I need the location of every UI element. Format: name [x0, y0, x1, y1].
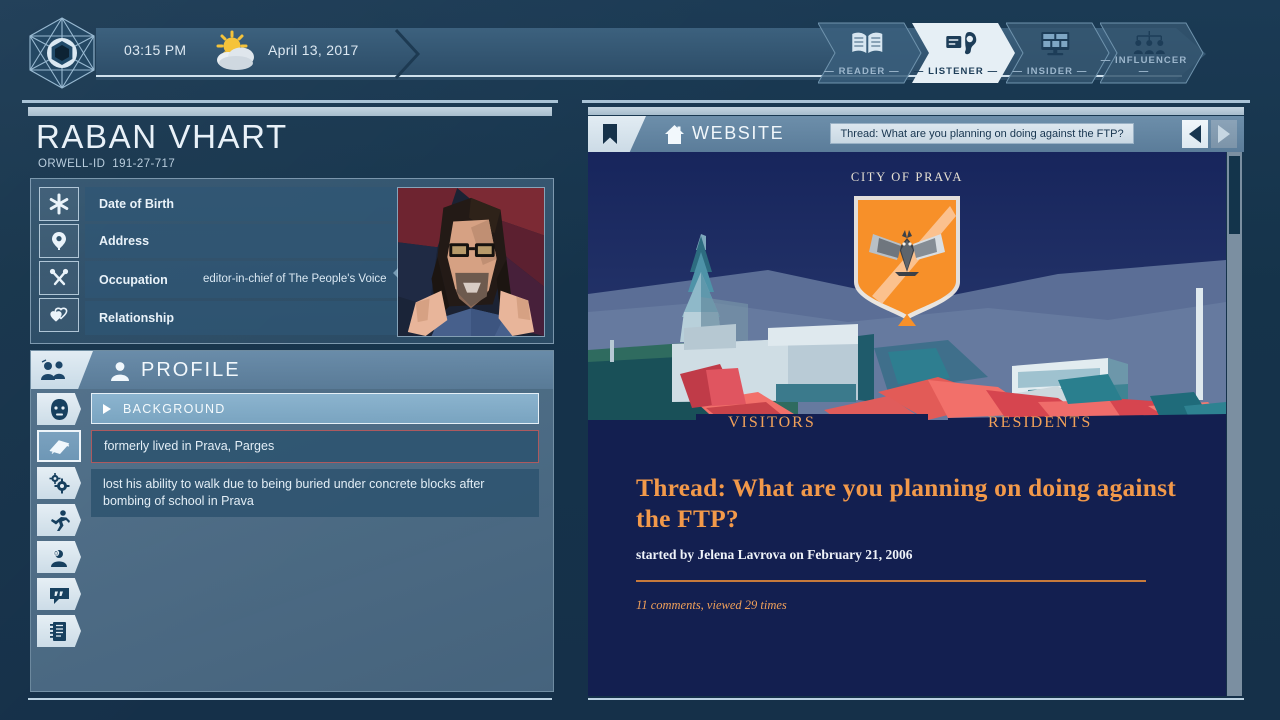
info-row-dob[interactable]: Date of Birth [85, 187, 413, 221]
face-icon[interactable] [37, 393, 81, 425]
info-row-relationship[interactable]: Relationship [85, 301, 413, 335]
thread-byline: started by Jelena Lavrova on February 21… [636, 547, 1182, 563]
tab-reader[interactable]: — READER — [818, 22, 922, 84]
home-icon [664, 124, 685, 145]
panel-top-rule [22, 100, 558, 103]
profile-header-title: PROFILE [141, 359, 241, 382]
arrow-left-icon [1189, 125, 1201, 143]
open-book-icon [850, 30, 884, 56]
chevron-right-icon [103, 404, 111, 414]
scrollbar-thumb[interactable] [1229, 156, 1240, 234]
visitors-link[interactable]: VISITORS [728, 414, 816, 432]
ledger-icon[interactable] [37, 615, 81, 647]
info-label-occupation: Occupation [99, 273, 203, 287]
map-pin-icon [39, 224, 79, 258]
panel-top-bar [28, 107, 552, 116]
info-row-occupation[interactable]: Occupation editor-in-chief of The People… [85, 261, 413, 298]
people-group-icon [1132, 30, 1166, 56]
ear-listening-icon [944, 30, 978, 56]
profile-category-icons: 0 [37, 393, 85, 652]
top-status-bar: 03:15 PM April 13, 2017 [0, 0, 1280, 96]
info-label-address: Address [99, 234, 203, 248]
residents-link[interactable]: RESIDENTS [988, 414, 1092, 432]
browser-panel-label: WEBSITE [692, 123, 784, 144]
sun-behind-cloud-icon [206, 29, 264, 73]
profile-facts: BACKGROUND formerly lived in Prava, Parg… [91, 393, 539, 517]
list-item[interactable]: lost his ability to walk due to being bu… [91, 469, 539, 517]
avatar [397, 187, 545, 337]
running-icon[interactable] [37, 504, 81, 536]
profile-card-header: PROFILE [31, 351, 553, 389]
thread-title: Thread: What are you planning on doing a… [636, 472, 1182, 534]
city-label: CITY OF PRAVA [588, 170, 1226, 185]
page-title: RABAN VHART [36, 118, 288, 156]
browser-panel: WEBSITE Thread: What are you planning on… [582, 100, 1250, 696]
info-rows: Date of Birth Address Occupation editor-… [85, 187, 413, 338]
orwell-id-label: ORWELL-ID [38, 158, 105, 170]
list-item[interactable]: formerly lived in Prava, Parges [91, 430, 539, 463]
person-info-card: Date of Birth Address Occupation editor-… [30, 178, 554, 344]
thread-article: Thread: What are you planning on doing a… [588, 444, 1226, 613]
profile-card: PROFILE [30, 350, 554, 692]
background-section-label: BACKGROUND [123, 402, 226, 416]
scrollbar[interactable] [1227, 152, 1242, 696]
forward-button[interactable] [1211, 120, 1237, 148]
info-row-address[interactable]: Address [85, 224, 413, 258]
background-section-header[interactable]: BACKGROUND [91, 393, 539, 424]
person-detail-panel: RABAN VHART ORWELL-ID191-27-717 [22, 100, 558, 696]
asterisk-icon [39, 187, 79, 221]
person-badge-icon[interactable]: 0 [37, 541, 81, 573]
tab-listener[interactable]: — LISTENER — [912, 22, 1016, 84]
browser-toolbar: WEBSITE Thread: What are you planning on… [588, 116, 1244, 152]
web-page-viewport: CITY OF PRAVA VISITORS RESIDENTS Thread:… [588, 152, 1226, 696]
panel-bottom-rule [28, 698, 552, 700]
info-icon-column [39, 187, 81, 335]
thread-meta: 11 comments, viewed 29 times [636, 598, 1182, 613]
divider [636, 580, 1146, 582]
tab-influencer-label: — INFLUENCER — [1100, 55, 1188, 77]
hearts-icon [39, 298, 79, 332]
browser-bottom-rule [588, 698, 1244, 700]
tab-insider-label: — INSIDER — [1006, 66, 1094, 77]
tab-reader-label: — READER — [818, 66, 906, 77]
clock-time: 03:15 PM [124, 42, 186, 58]
gears-icon[interactable] [37, 467, 81, 499]
info-value-occupation: editor-in-chief of The People's Voice [203, 273, 395, 286]
url-bar[interactable]: Thread: What are you planning on doing a… [830, 123, 1134, 144]
info-label-relationship: Relationship [99, 311, 203, 325]
current-date: April 13, 2017 [268, 42, 359, 58]
browser-top-bar [588, 107, 1244, 115]
city-banner: CITY OF PRAVA VISITORS RESIDENTS [588, 152, 1226, 444]
tab-influencer[interactable]: — INFLUENCER — [1100, 22, 1204, 84]
orwell-id-row: ORWELL-ID191-27-717 [38, 158, 175, 170]
tab-insider[interactable]: — INSIDER — [1006, 22, 1110, 84]
orwell-diamond-logo [28, 16, 96, 90]
quote-bubble-icon[interactable] [37, 578, 81, 610]
back-button[interactable] [1182, 120, 1208, 148]
orwell-id-value: 191-27-717 [112, 158, 175, 170]
url-text: Thread: What are you planning on doing a… [840, 128, 1123, 140]
orwell-app-window: 03:15 PM April 13, 2017 [0, 0, 1280, 720]
bookmark-icon[interactable] [588, 116, 646, 152]
browser-top-rule [582, 100, 1250, 103]
tab-listener-label: — LISTENER — [912, 66, 1000, 77]
info-label-dob: Date of Birth [99, 197, 203, 211]
monitor-icon [1038, 30, 1072, 56]
tools-icon [39, 261, 79, 295]
arrow-right-icon [1218, 125, 1230, 143]
book-icon[interactable] [37, 430, 81, 462]
browser-nav-buttons [1182, 120, 1237, 148]
person-icon [109, 360, 131, 382]
